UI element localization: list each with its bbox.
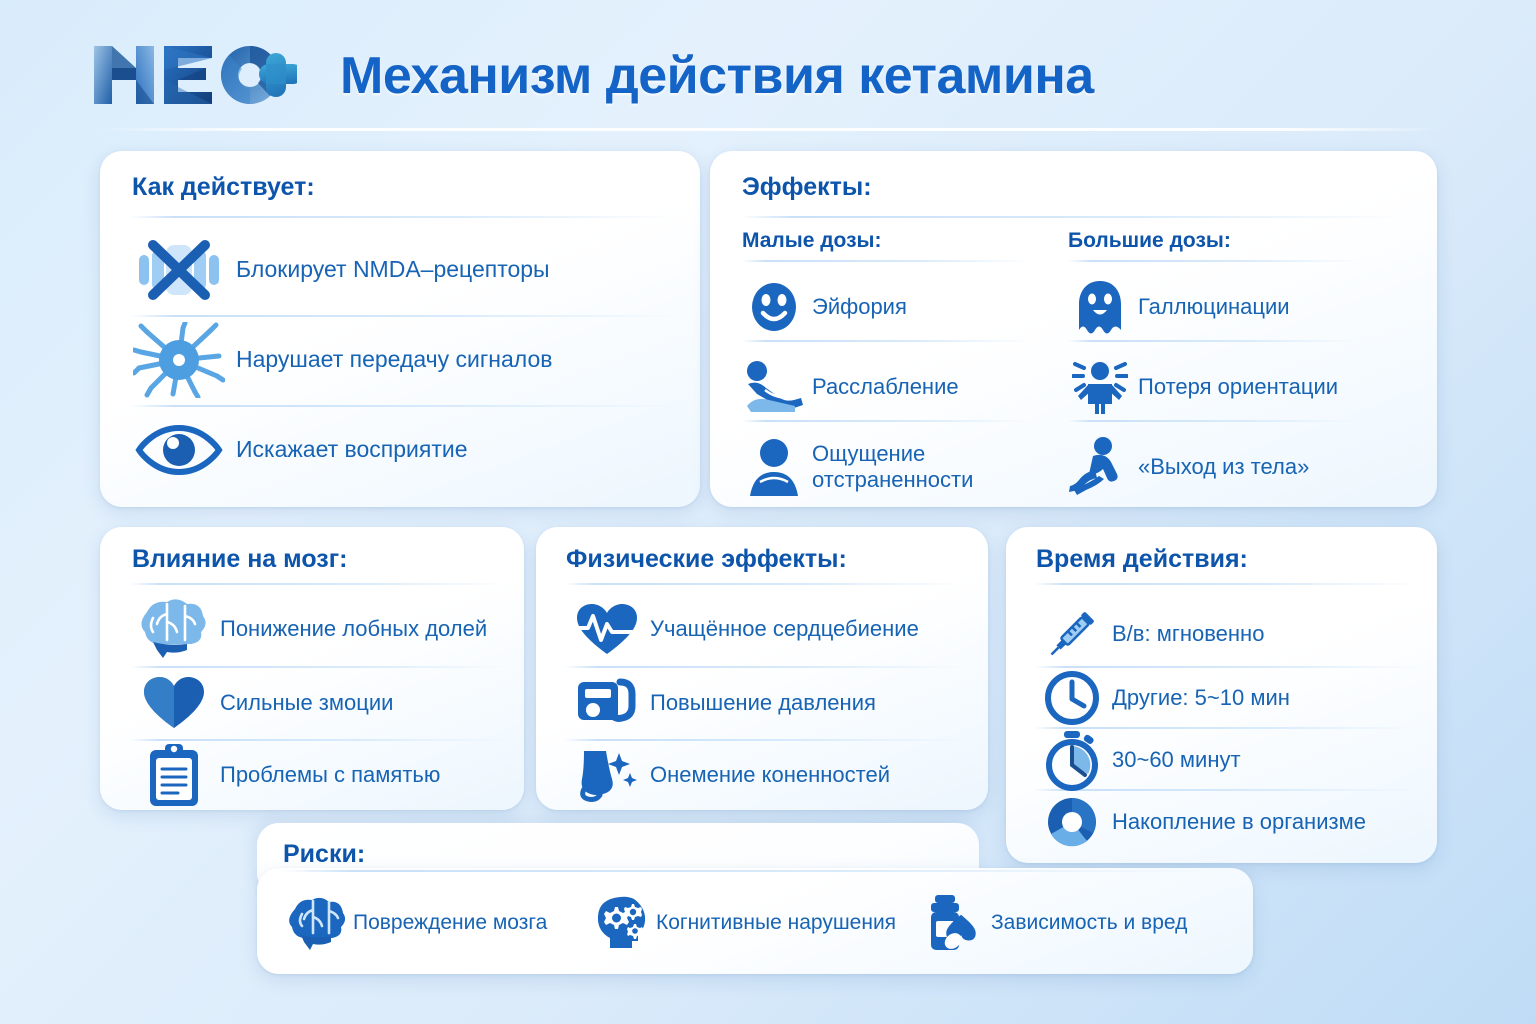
divider [281, 870, 1221, 872]
clipboard-icon [128, 742, 220, 808]
list-item[interactable]: В/в: мгновенно [1032, 603, 1432, 665]
pill-bottle-icon [917, 893, 991, 953]
syringe-icon [1032, 603, 1112, 665]
list-item-label: Ощущение отстраненности [812, 441, 1052, 493]
divider [130, 583, 510, 585]
list-item[interactable]: Потеря ориентации [1068, 356, 1378, 418]
donut-chart-icon [1032, 793, 1112, 851]
list-item-label: Другие: 5~10 мин [1112, 685, 1290, 711]
list-item-label: 30~60 минут [1112, 747, 1241, 773]
list-item-label: Повреждение мозга [353, 911, 547, 936]
divider [740, 216, 1407, 218]
list-item[interactable]: Проблемы с памятью [128, 739, 520, 811]
ghost-icon [1068, 278, 1132, 336]
numb-foot-icon [564, 745, 650, 805]
effects-high-dose-column: Большие дозы: Галлюцинации [1068, 229, 1378, 498]
list-item[interactable]: Сильные змоции [128, 667, 520, 739]
list-item-label: Онемение коненностей [650, 762, 890, 788]
list-item-label: Проблемы с памятью [220, 762, 440, 788]
list-item[interactable]: Повышение давления [564, 667, 984, 739]
brain-damage-icon [279, 895, 353, 951]
floating-person-icon [1068, 436, 1132, 498]
list-item-label: В/в: мгновенно [1112, 621, 1264, 647]
list-item[interactable]: Нарушает передачу сигналов [130, 317, 680, 403]
list-item-label: Накопление в организме [1112, 809, 1366, 835]
list-item-label: Расслабление [812, 374, 959, 400]
brain-icon [128, 598, 220, 660]
list-item[interactable]: Зависимость и вред [917, 890, 1187, 956]
blood-pressure-monitor-icon [564, 672, 650, 734]
list-item[interactable]: Галлюцинации [1068, 276, 1378, 338]
list-item-label: Когнитивные нарушения [656, 911, 896, 936]
list-item-label: Эйфория [812, 294, 907, 320]
list-item[interactable]: Другие: 5~10 мин [1032, 667, 1432, 729]
card-risks-title: Риски: [283, 840, 365, 869]
card-brain-impact: Влияние на мозг: Понижение лобных долей [100, 527, 524, 810]
list-item-label: Понижение лобных долей [220, 616, 487, 642]
list-item-label: Блокирует NMDA–рецепторы [236, 256, 550, 283]
neuron-icon [130, 322, 228, 398]
reclining-person-icon [742, 358, 806, 416]
card-physical-title: Физические эффекты: [566, 545, 847, 574]
list-item[interactable]: Повреждение мозга [279, 890, 547, 956]
list-item[interactable]: 30~60 минут [1032, 729, 1432, 791]
heartbeat-icon [564, 600, 650, 658]
card-how-it-works: Как действует: Блокирует NMDA–рецепторы [100, 151, 700, 507]
list-item-label: Искажает восприятие [236, 436, 468, 463]
page-title: Механизм действия кетамина [340, 46, 1094, 106]
header-divider [96, 128, 1444, 131]
confused-person-icon [1068, 358, 1132, 416]
infographic-root: Механизм действия кетамина Как действует… [0, 0, 1536, 1024]
divider [130, 216, 682, 218]
card-risks: Повреждение мозга Когнитивные нарушения [257, 868, 1253, 974]
list-item[interactable]: Накопление в организме [1032, 791, 1432, 853]
divider [1068, 340, 1358, 342]
heart-icon [128, 674, 220, 732]
list-item[interactable]: Расслабление [742, 356, 1052, 418]
divider [742, 260, 1034, 262]
list-item[interactable]: Искажает восприятие [130, 407, 680, 493]
neo-plus-logo [92, 40, 297, 112]
list-item[interactable]: Онемение коненностей [564, 739, 984, 811]
list-item[interactable]: Блокирует NMDA–рецепторы [130, 227, 680, 313]
list-item[interactable]: Учащённое сердцебиение [564, 593, 984, 665]
smiley-face-icon [742, 278, 806, 336]
list-item[interactable]: Когнитивные нарушения [582, 890, 896, 956]
eye-icon [130, 422, 228, 478]
divider [1034, 583, 1420, 585]
list-item[interactable]: Понижение лобных долей [128, 593, 520, 665]
person-bust-icon [742, 436, 806, 498]
list-item[interactable]: Эйфория [742, 276, 1052, 338]
card-effects-title: Эффекты: [742, 173, 872, 202]
list-item-label: Потеря ориентации [1138, 374, 1338, 400]
subheading-high-dose: Большие дозы: [1068, 229, 1378, 253]
effects-low-dose-column: Малые дозы: Эйфория [742, 229, 1052, 498]
list-item-label: «Выход из тела» [1138, 454, 1309, 480]
divider [564, 583, 968, 585]
list-item-label: Учащённое сердцебиение [650, 616, 919, 642]
list-item-label: Повышение давления [650, 690, 876, 716]
list-item[interactable]: «Выход из тела» [1068, 436, 1378, 498]
subheading-low-dose: Малые дозы: [742, 229, 1052, 253]
header: Механизм действия кетамина [0, 0, 1536, 132]
divider [742, 420, 1032, 422]
list-item-label: Нарушает передачу сигналов [236, 346, 552, 373]
card-how-title: Как действует: [132, 173, 315, 202]
card-duration-title: Время действия: [1036, 545, 1248, 574]
divider [1068, 420, 1358, 422]
stopwatch-icon [1032, 729, 1112, 791]
list-item[interactable]: Ощущение отстраненности [742, 436, 1052, 498]
list-item-label: Сильные змоции [220, 690, 393, 716]
card-effects: Эффекты: Малые дозы: Эйфория [710, 151, 1437, 507]
card-brain-title: Влияние на мозг: [132, 545, 347, 574]
list-item-label: Галлюцинации [1138, 294, 1290, 320]
blocked-receptor-icon [130, 239, 228, 301]
list-item-label: Зависимость и вред [991, 911, 1187, 936]
clock-icon [1032, 669, 1112, 727]
head-gears-icon [582, 894, 656, 952]
card-duration: Время действия: В/в: мгновенно [1006, 527, 1437, 863]
divider [742, 340, 1032, 342]
card-physical-effects: Физические эффекты: Учащённое сердцебиен… [536, 527, 988, 810]
divider [1068, 260, 1360, 262]
